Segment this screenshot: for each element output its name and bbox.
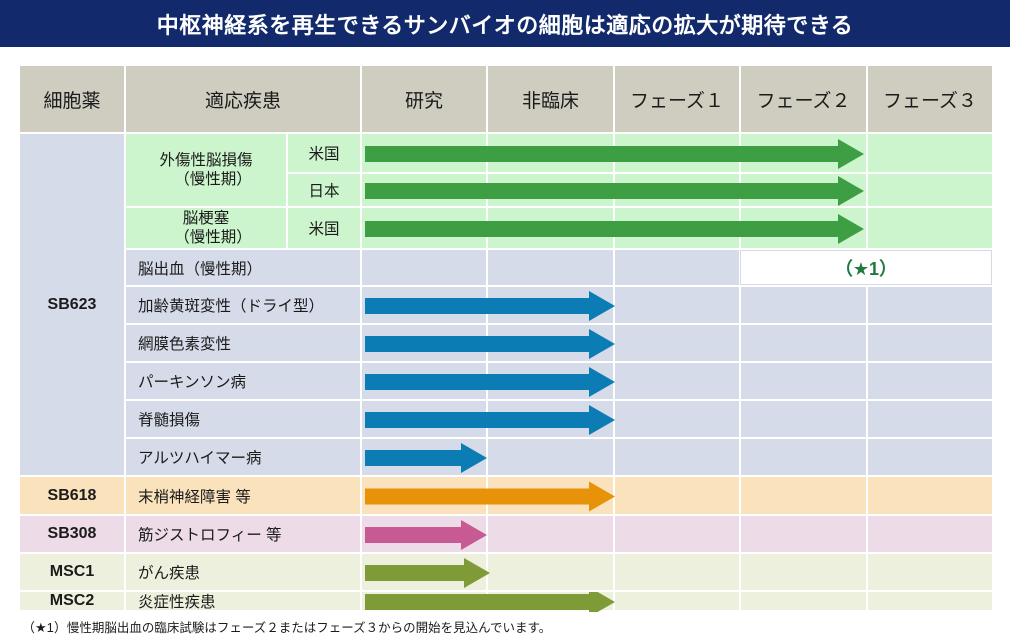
phase-cell-phase2 (741, 477, 868, 516)
disease-name-cell: アルツハイマー病 (126, 439, 362, 477)
phase-cell-phase3 (868, 287, 992, 325)
phase-cell-phase3 (868, 363, 992, 401)
phase-cell-phase2 (741, 287, 868, 325)
phase-cell-phase3 (868, 592, 992, 612)
region-cell: 米国 (288, 134, 362, 174)
phase-cell-phase2 (741, 208, 868, 250)
phase-cell-phase1 (615, 554, 741, 592)
drug-name-cell: SB618 (20, 477, 126, 516)
phase-cell-phase3 (868, 554, 992, 592)
phase-cell-preclin (488, 592, 615, 612)
phase-cell-research (362, 363, 488, 401)
phase-cell-phase2 (741, 516, 868, 554)
slide-root: 中枢神経系を再生できるサンバイオの細胞は適応の拡大が期待できる 細胞薬適応疾患研… (0, 0, 1010, 641)
phase-cell-preclin (488, 516, 615, 554)
disease-name-cell: 末梢神経障害 等 (126, 477, 362, 516)
pipeline-table: 細胞薬適応疾患研究非臨床フェーズ１フェーズ２フェーズ３ SB623SB618SB… (20, 66, 992, 612)
phase-cell-phase2 (741, 439, 868, 477)
phase-cell-research (362, 477, 488, 516)
phase-cell-phase1 (615, 325, 741, 363)
phase-cell-preclin (488, 208, 615, 250)
phase-cell-phase3 (868, 134, 992, 174)
disease-name-cell: 脊髄損傷 (126, 401, 362, 439)
drug-name-cell: SB308 (20, 516, 126, 554)
phase-cell-phase1 (615, 363, 741, 401)
phase-cell-preclin (488, 287, 615, 325)
drug-name-cell: MSC2 (20, 592, 126, 612)
phase-cell-phase3 (868, 401, 992, 439)
phase-cell-phase1 (615, 477, 741, 516)
phase-cell-research (362, 250, 488, 287)
disease-name-cell: 加齢黄斑変性（ドライ型） (126, 287, 362, 325)
phase-cell-phase3 (868, 174, 992, 208)
phase-cell-preclin (488, 174, 615, 208)
phase-cell-phase3 (868, 208, 992, 250)
footnote: （★1）慢性期脳出血の臨床試験はフェーズ２またはフェーズ３からの開始を見込んでい… (22, 617, 982, 636)
page-title: 中枢神経系を再生できるサンバイオの細胞は適応の拡大が期待できる (157, 8, 854, 40)
phase-cell-phase1 (615, 516, 741, 554)
phase-cell-research (362, 325, 488, 363)
phase-cell-preclin (488, 363, 615, 401)
phase-cell-research (362, 287, 488, 325)
phase-cell-phase2 (741, 401, 868, 439)
phase-cell-research (362, 208, 488, 250)
phase-cell-research (362, 134, 488, 174)
drug-name-cell: SB623 (20, 134, 126, 477)
phase-cell-phase2 (741, 174, 868, 208)
phase-cell-preclin (488, 134, 615, 174)
phase-cell-phase3 (868, 439, 992, 477)
phase-cell-phase1 (615, 208, 741, 250)
phase-cell-phase2 (741, 325, 868, 363)
footnote-text: 慢性期脳出血の臨床試験はフェーズ２またはフェーズ３からの開始を見込んでいます。 (67, 621, 551, 635)
phase-cell-phase2 (741, 134, 868, 174)
disease-name-cell: 脳出血（慢性期） (126, 250, 362, 287)
phase-cell-phase3 (868, 516, 992, 554)
phase-cell-phase1 (615, 439, 741, 477)
phase-cell-phase1 (615, 174, 741, 208)
phase-cell-research (362, 174, 488, 208)
slide-title-banner: 中枢神経系を再生できるサンバイオの細胞は適応の拡大が期待できる (0, 0, 1010, 47)
footnote-marker: （★1） (22, 620, 67, 635)
disease-name-cell: 筋ジストロフィー 等 (126, 516, 362, 554)
disease-name-cell: 外傷性脳損傷（慢性期） (126, 134, 288, 208)
phase-cell-research (362, 516, 488, 554)
phase-cell-preclin (488, 401, 615, 439)
phase-cell-phase1 (615, 250, 741, 287)
star-note-cell: （★1） (740, 250, 992, 285)
disease-name-cell: パーキンソン病 (126, 363, 362, 401)
column-header-phase1: フェーズ１ (615, 66, 741, 132)
disease-name-cell: 網膜色素変性 (126, 325, 362, 363)
column-header-phase3: フェーズ３ (868, 66, 992, 132)
phase-cell-preclin (488, 325, 615, 363)
phase-cell-phase2 (741, 554, 868, 592)
phase-cell-phase2 (741, 592, 868, 612)
phase-cell-phase3 (868, 325, 992, 363)
disease-name-cell: がん疾患 (126, 554, 362, 592)
phase-cell-phase1 (615, 134, 741, 174)
phase-cell-preclin (488, 477, 615, 516)
column-header-phase2: フェーズ２ (741, 66, 868, 132)
phase-cell-phase1 (615, 592, 741, 612)
phase-cell-preclin (488, 439, 615, 477)
phase-cell-research (362, 554, 488, 592)
phase-cell-research (362, 401, 488, 439)
phase-cell-research (362, 439, 488, 477)
phase-cell-preclin (488, 250, 615, 287)
phase-cell-phase2 (741, 363, 868, 401)
disease-name-cell: 脳梗塞（慢性期） (126, 208, 288, 250)
region-cell: 日本 (288, 174, 362, 208)
region-cell: 米国 (288, 208, 362, 250)
phase-cell-research (362, 592, 488, 612)
column-header-drug: 細胞薬 (20, 66, 126, 132)
column-header-disease: 適応疾患 (126, 66, 362, 132)
table-body: SB623SB618SB308MSC1MSC2外傷性脳損傷（慢性期）米国日本脳梗… (20, 134, 992, 612)
column-header-research: 研究 (362, 66, 488, 132)
column-header-preclin: 非臨床 (488, 66, 615, 132)
phase-cell-preclin (488, 554, 615, 592)
drug-name-cell: MSC1 (20, 554, 126, 592)
phase-cell-phase3 (868, 477, 992, 516)
table-header-row: 細胞薬適応疾患研究非臨床フェーズ１フェーズ２フェーズ３ (20, 66, 992, 132)
disease-name-cell: 炎症性疾患 (126, 592, 362, 612)
phase-cell-phase1 (615, 401, 741, 439)
phase-cell-phase1 (615, 287, 741, 325)
